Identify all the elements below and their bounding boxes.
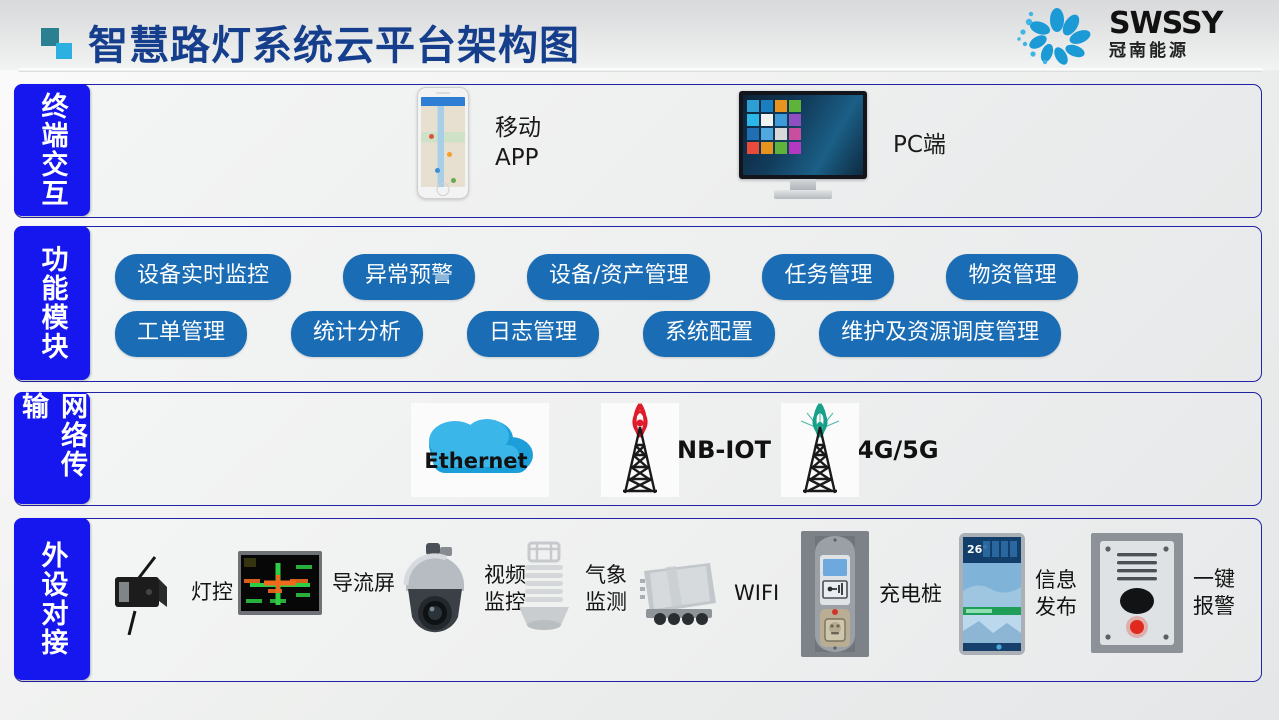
function-module-row-2: 工单管理 统计分析 日志管理 系统配置 维护及资源调度管理 <box>115 311 1061 357</box>
tile <box>775 142 787 154</box>
phone-earpiece-icon <box>436 92 450 94</box>
tile <box>761 114 773 126</box>
section-body-network: Ethernet NB <box>91 393 1261 505</box>
weather-monitor-label: 气象 监测 <box>585 562 627 616</box>
section-tab-label: 功能模块 <box>33 245 72 361</box>
tile <box>789 100 801 112</box>
phone-home-button-icon <box>437 183 450 196</box>
lamp-controller-icon <box>105 549 181 635</box>
page-title: 智慧路灯系统云平台架构图 <box>88 13 580 71</box>
ptz-camera-icon <box>396 539 474 639</box>
one-key-alarm-item[interactable]: 一键 报警 <box>1091 533 1235 653</box>
one-key-alarm-label: 一键 报警 <box>1193 566 1235 620</box>
monitor-bezel <box>739 91 867 179</box>
cloud-icon: Ethernet <box>411 403 549 497</box>
phone-map-view <box>421 106 465 187</box>
swssy-splash-icon <box>1009 6 1105 68</box>
section-peripheral-devices: 外设对接 灯控 <box>14 518 1262 682</box>
info-display-label: 信息 发布 <box>1035 567 1077 621</box>
tile <box>789 128 801 140</box>
module-button-maintenance-dispatch[interactable]: 维护及资源调度管理 <box>819 311 1061 357</box>
map-pin-icon <box>451 178 456 183</box>
smartphone-icon <box>417 87 469 199</box>
video-surveillance-item[interactable]: 视频 监控 <box>396 539 526 639</box>
mobile-network-item[interactable]: 4G/5G <box>781 403 939 497</box>
section-tab-network-transmission[interactable]: 网络传输 <box>14 392 90 504</box>
wifi-ap-label: WIFI <box>734 580 779 607</box>
map-pin-icon <box>435 168 440 173</box>
ethernet-item[interactable]: Ethernet <box>411 403 549 497</box>
module-button-log-management[interactable]: 日志管理 <box>467 311 599 357</box>
wifi-ap-item[interactable]: WIFI <box>636 557 779 629</box>
desktop-monitor-icon <box>739 91 867 199</box>
tile <box>761 100 773 112</box>
company-logo: SWSSY 冠南能源 <box>1009 6 1257 68</box>
tile <box>747 142 759 154</box>
section-tab-label: 网络传输 <box>13 392 91 504</box>
phone-appbar <box>421 97 465 106</box>
tower-shape <box>781 403 859 497</box>
mobile-network-label: 4G/5G <box>857 436 939 464</box>
pc-client-label: PC端 <box>893 130 946 160</box>
title-square-light-icon <box>56 43 72 59</box>
section-tab-function-modules[interactable]: 功能模块 <box>14 226 90 380</box>
windows-tiles <box>747 100 805 154</box>
section-body-devices: 灯控 <box>91 519 1261 681</box>
section-tab-label: 外设对接 <box>33 541 72 657</box>
tile <box>775 100 787 112</box>
section-tab-label: 终端交互 <box>33 92 72 208</box>
mobile-app-item[interactable]: 移动 APP <box>417 87 541 199</box>
header-divider <box>18 68 1263 72</box>
module-button-task-management[interactable]: 任务管理 <box>762 254 894 300</box>
module-button-statistics[interactable]: 统计分析 <box>291 311 423 357</box>
mobile-app-label: 移动 APP <box>495 113 541 173</box>
guidance-screen-label: 导流屏 <box>332 570 395 597</box>
light-controller-item[interactable]: 灯控 <box>105 549 233 635</box>
section-tab-terminal-interaction[interactable]: 终端交互 <box>14 84 90 216</box>
monitor-base <box>774 190 832 199</box>
tile <box>775 128 787 140</box>
module-button-exception-alert[interactable]: 异常预警 <box>343 254 475 300</box>
module-button-system-config[interactable]: 系统配置 <box>643 311 775 357</box>
weather-monitor-item[interactable]: 气象 监测 <box>513 539 627 639</box>
section-terminal-interaction: 终端交互 移动 APP <box>14 84 1262 218</box>
logo-brand-subtitle: 冠南能源 <box>1109 40 1222 62</box>
charging-pile-item[interactable]: 充电桩 <box>801 531 942 657</box>
ethernet-label: Ethernet <box>411 449 541 473</box>
section-function-modules: 功能模块 设备实时监控 异常预警 设备/资产管理 任务管理 物资管理 工单管理 … <box>14 226 1262 382</box>
info-display-item[interactable]: 26° 信息 发布 <box>959 533 1077 655</box>
nb-iot-item[interactable]: NB-IOT <box>601 403 771 497</box>
tower-shape <box>601 403 679 497</box>
tile <box>761 142 773 154</box>
section-body-function: 设备实时监控 异常预警 设备/资产管理 任务管理 物资管理 工单管理 统计分析 … <box>91 227 1261 381</box>
section-tab-peripheral-devices[interactable]: 外设对接 <box>14 518 90 680</box>
tile <box>761 128 773 140</box>
charging-pile-icon <box>801 531 869 657</box>
map-pin-icon <box>447 152 452 157</box>
nb-iot-label: NB-IOT <box>677 436 771 464</box>
tile <box>747 128 759 140</box>
module-button-device-monitor[interactable]: 设备实时监控 <box>115 254 291 300</box>
function-module-row-1: 设备实时监控 异常预警 设备/资产管理 任务管理 物资管理 <box>115 254 1078 300</box>
wifi-enclosure-icon <box>636 557 724 629</box>
phone-screen <box>421 97 465 187</box>
tile <box>775 114 787 126</box>
monitor-screen <box>743 95 863 175</box>
tile <box>789 142 801 154</box>
title-decoration-icon <box>41 28 81 60</box>
charging-pile-label: 充电桩 <box>879 581 942 608</box>
section-body-terminal: 移动 APP <box>91 85 1261 217</box>
module-button-material-management[interactable]: 物资管理 <box>946 254 1078 300</box>
module-button-work-order[interactable]: 工单管理 <box>115 311 247 357</box>
section-network-transmission: 网络传输 Ethernet <box>14 392 1262 506</box>
signal-tower-icon <box>781 403 859 497</box>
light-controller-label: 灯控 <box>191 579 233 606</box>
tile <box>747 114 759 126</box>
pc-client-item[interactable]: PC端 <box>739 91 946 199</box>
tile <box>789 114 801 126</box>
guidance-screen-item[interactable]: 导流屏 <box>238 551 395 615</box>
logo-brand-name: SWSSY <box>1109 8 1222 40</box>
signal-tower-icon <box>601 403 679 497</box>
page-header: 智慧路灯系统云平台架构图 SWSSY 冠南能源 <box>0 0 1279 70</box>
tile <box>747 100 759 112</box>
info-display-screen-icon: 26° <box>959 533 1025 655</box>
weather-station-icon <box>513 539 575 639</box>
map-pin-icon <box>429 134 434 139</box>
led-guidance-screen-icon <box>238 551 322 615</box>
module-button-asset-management[interactable]: 设备/资产管理 <box>527 254 710 300</box>
logo-text-block: SWSSY 冠南能源 <box>1109 8 1222 62</box>
emergency-call-box-icon <box>1091 533 1183 653</box>
